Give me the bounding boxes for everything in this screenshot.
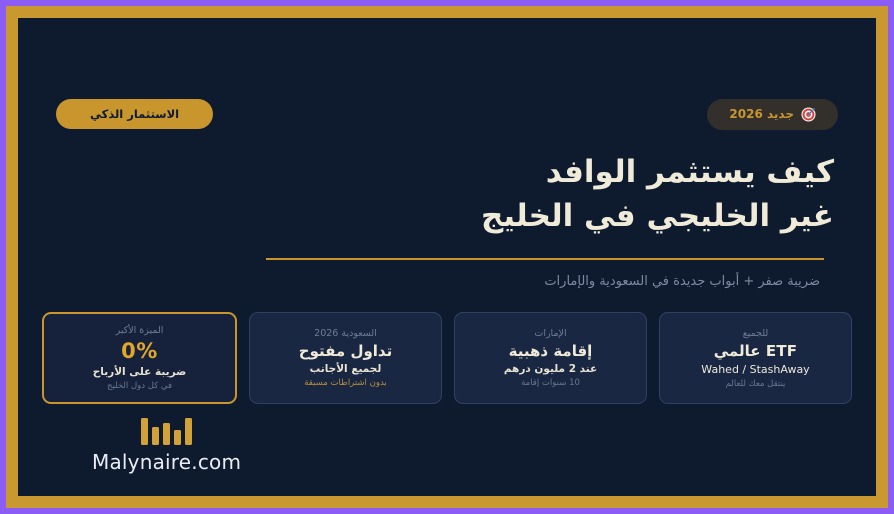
- title-line-2: غير الخليجي في الخليج: [481, 194, 834, 238]
- brand-name: Malynaire.com: [92, 450, 241, 474]
- card-tag: الميزة الأكبر: [116, 325, 164, 336]
- card-headline: إقامة ذهبية: [509, 342, 593, 360]
- logo-bar: [163, 423, 170, 445]
- card-headline: ETF عالمي: [714, 342, 798, 360]
- card-note: في كل دول الخليج: [107, 381, 172, 391]
- page-subtitle: ضريبة صفر + أبواب جديدة في السعودية والإ…: [544, 274, 820, 289]
- card-tag: الإمارات: [534, 328, 566, 339]
- new-2026-badge: جديد 2026: [707, 99, 838, 130]
- card-note: 10 سنوات إقامة: [521, 378, 580, 388]
- bar-chart-logo-icon: [141, 409, 192, 445]
- card-subtext: عند 2 مليون درهم: [504, 363, 597, 375]
- card-tag: السعودية 2026: [314, 328, 377, 339]
- card-subtext: لجميع الأجانب: [310, 363, 382, 375]
- card-headline: 0%: [121, 339, 158, 363]
- outer-purple-frame: الاستثمار الذكي جديد 2026 كيف يستثم: [0, 0, 894, 514]
- feature-card-list: الميزة الأكبر 0% ضريبة على الأرباح في كل…: [42, 312, 852, 404]
- logo-bar: [174, 430, 181, 445]
- smart-investment-badge: الاستثمار الذكي: [56, 99, 213, 129]
- feature-card: الميزة الأكبر 0% ضريبة على الأرباح في كل…: [42, 312, 237, 404]
- logo-bar: [141, 418, 148, 445]
- new-badge-label: جديد 2026: [729, 107, 794, 121]
- title-line-1: كيف يستثمر الوافد: [546, 154, 834, 190]
- brand-logo: Malynaire.com: [92, 409, 241, 474]
- logo-bar: [152, 427, 159, 445]
- page-title: كيف يستثمر الوافد غير الخليجي في الخليج: [481, 150, 834, 238]
- inner-gold-frame: الاستثمار الذكي جديد 2026 كيف يستثم: [6, 6, 888, 508]
- card-subtext: ضريبة على الأرباح: [93, 366, 187, 378]
- card-note: ينتقل معك للعالم: [726, 379, 786, 389]
- target-icon: [801, 107, 816, 122]
- gold-divider: [266, 258, 824, 260]
- feature-card: الإمارات إقامة ذهبية عند 2 مليون درهم 10…: [454, 312, 647, 404]
- logo-bar: [185, 418, 192, 445]
- header-row: الاستثمار الذكي جديد 2026: [56, 96, 838, 132]
- card-headline: تداول مفتوح: [299, 342, 392, 360]
- feature-card: السعودية 2026 تداول مفتوح لجميع الأجانب …: [249, 312, 442, 404]
- feature-card: للجميع ETF عالمي Wahed / StashAway ينتقل…: [659, 312, 852, 404]
- slide-canvas: الاستثمار الذكي جديد 2026 كيف يستثم: [18, 18, 876, 496]
- card-note: بدون اشتراطات مسبقة: [304, 378, 387, 388]
- card-tag: للجميع: [743, 328, 769, 339]
- card-subtext: Wahed / StashAway: [701, 363, 809, 376]
